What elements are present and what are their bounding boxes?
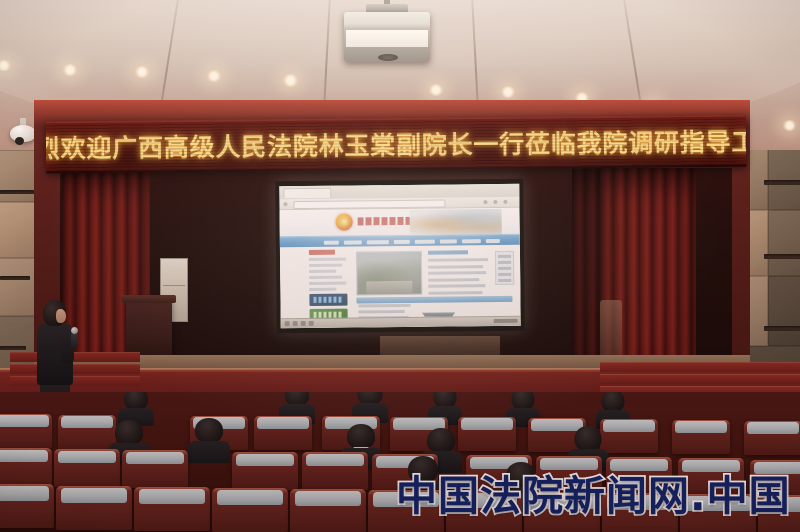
ceiling-downlight bbox=[428, 84, 444, 96]
widget-row bbox=[498, 255, 511, 258]
audience-seat bbox=[122, 450, 188, 488]
lower-list-row[interactable] bbox=[359, 304, 411, 308]
sidebar-link[interactable] bbox=[309, 270, 336, 273]
person-head bbox=[575, 426, 602, 451]
audience-seat bbox=[600, 419, 658, 453]
nav-item[interactable] bbox=[440, 239, 457, 243]
podium-top bbox=[122, 295, 176, 303]
browser-address-bar[interactable] bbox=[293, 200, 445, 210]
led-welcome-banner: 热烈欢迎广西高级人民法院林玉棠副院长一行莅临我院调研指导工作 bbox=[46, 115, 746, 174]
audience-seat bbox=[302, 452, 368, 490]
widget-row bbox=[498, 267, 511, 270]
sidebar-link[interactable] bbox=[309, 288, 336, 291]
acoustic-slot bbox=[764, 254, 800, 259]
audience-seat bbox=[744, 421, 800, 455]
acoustic-slot bbox=[0, 346, 26, 350]
security-camera-dome bbox=[10, 120, 36, 142]
news-headline[interactable] bbox=[428, 271, 486, 275]
news-list-heading bbox=[428, 250, 468, 254]
ceiling-downlight bbox=[500, 86, 516, 98]
ceiling-downlight bbox=[134, 66, 150, 78]
handheld-microphone bbox=[71, 332, 78, 348]
audience-seat bbox=[290, 489, 366, 532]
ceiling-projector bbox=[344, 4, 430, 64]
taskbar-clock bbox=[494, 319, 518, 323]
audience-seat bbox=[232, 452, 298, 490]
website-header bbox=[280, 208, 520, 237]
news-headline[interactable] bbox=[428, 284, 485, 288]
audience-seat bbox=[0, 414, 52, 448]
lower-feature-image bbox=[421, 307, 457, 316]
nav-item[interactable] bbox=[367, 240, 389, 244]
audience-seat bbox=[0, 484, 54, 528]
widget-row bbox=[498, 261, 511, 264]
news-headline[interactable] bbox=[428, 278, 479, 282]
ceiling-downlight bbox=[206, 70, 222, 82]
acoustic-slot bbox=[0, 276, 30, 280]
news-headline[interactable] bbox=[428, 265, 483, 269]
person-head bbox=[115, 420, 143, 445]
header-decorative-image bbox=[410, 209, 502, 235]
sidebar-link[interactable] bbox=[309, 282, 346, 285]
person-head bbox=[427, 428, 455, 453]
court-website-on-screen bbox=[279, 184, 520, 329]
news-headline[interactable] bbox=[428, 291, 482, 295]
audience-seat bbox=[0, 448, 52, 486]
acoustic-slot bbox=[764, 180, 800, 185]
audience-seat bbox=[254, 416, 312, 450]
sidebar-link[interactable] bbox=[309, 258, 346, 261]
audience-seat bbox=[458, 417, 516, 451]
acoustic-slot bbox=[764, 326, 800, 331]
ceiling-downlight bbox=[282, 74, 299, 87]
browser-tab[interactable] bbox=[283, 188, 331, 199]
browser-star-icon[interactable] bbox=[493, 200, 497, 204]
banner-text: 热烈欢迎广西高级人民法院林玉棠副院长一行莅临我院调研指导工作 bbox=[46, 122, 746, 165]
browser-settings-icon[interactable] bbox=[503, 200, 507, 204]
website-sidebar bbox=[309, 250, 347, 300]
os-taskbar bbox=[281, 316, 521, 329]
ceiling-downlight bbox=[62, 64, 78, 76]
audience-seat bbox=[212, 488, 288, 532]
audience-seat bbox=[134, 487, 210, 531]
website-page bbox=[280, 208, 521, 329]
stage-step bbox=[600, 362, 800, 372]
stage-chair bbox=[600, 300, 622, 356]
person-torso bbox=[188, 441, 230, 463]
podium bbox=[126, 300, 172, 358]
section-divider bbox=[356, 296, 512, 304]
camera-lens bbox=[15, 137, 24, 145]
taskbar-app-icon[interactable] bbox=[309, 321, 314, 326]
nav-item[interactable] bbox=[462, 239, 481, 243]
audience-seat bbox=[54, 449, 120, 487]
person-head bbox=[347, 424, 375, 449]
sidebar-link[interactable] bbox=[309, 276, 342, 279]
person-head bbox=[602, 392, 625, 412]
news-headline[interactable] bbox=[428, 258, 488, 262]
audience-seat bbox=[672, 420, 730, 454]
presenter-face bbox=[56, 309, 66, 323]
website-side-widget[interactable] bbox=[495, 251, 514, 285]
projector-lens bbox=[378, 54, 398, 61]
projection-screen bbox=[275, 179, 525, 334]
browser-menu-icon[interactable] bbox=[483, 200, 487, 204]
nav-item[interactable] bbox=[486, 239, 500, 243]
nav-item[interactable] bbox=[344, 240, 362, 244]
nav-item[interactable] bbox=[394, 240, 410, 244]
stone-wall-panel bbox=[768, 276, 800, 346]
lower-list-row[interactable] bbox=[359, 310, 405, 313]
browser-back-icon[interactable] bbox=[283, 202, 287, 206]
nav-item[interactable] bbox=[415, 240, 435, 244]
taskbar-start-icon[interactable] bbox=[285, 321, 290, 326]
camera-housing bbox=[10, 125, 36, 142]
national-emblem bbox=[336, 213, 353, 230]
audience-person bbox=[188, 418, 230, 460]
nav-item[interactable] bbox=[324, 241, 339, 245]
sidebar-heading bbox=[309, 250, 335, 255]
widget-row bbox=[498, 279, 511, 282]
auditorium-photo: 热烈欢迎广西高级人民法院林玉棠副院长一行莅临我院调研指导工作 bbox=[0, 0, 800, 532]
site-watermark: 中国法院新闻网.中国 bbox=[396, 462, 791, 522]
person-head bbox=[195, 418, 223, 443]
stone-wall-panel bbox=[768, 210, 800, 276]
ceiling-downlight bbox=[782, 120, 797, 131]
projector-band bbox=[346, 30, 428, 47]
widget-row bbox=[498, 273, 511, 276]
sidebar-link[interactable] bbox=[309, 264, 342, 267]
taskbar-app-icon[interactable] bbox=[293, 321, 298, 326]
audience-seat bbox=[56, 486, 132, 530]
screen-surface bbox=[279, 184, 520, 329]
news-photo[interactable] bbox=[356, 251, 422, 296]
acoustic-slot bbox=[0, 190, 34, 194]
sidebar-advertisement[interactable] bbox=[309, 294, 347, 306]
taskbar-app-icon[interactable] bbox=[301, 321, 306, 326]
stage-step bbox=[600, 374, 800, 384]
